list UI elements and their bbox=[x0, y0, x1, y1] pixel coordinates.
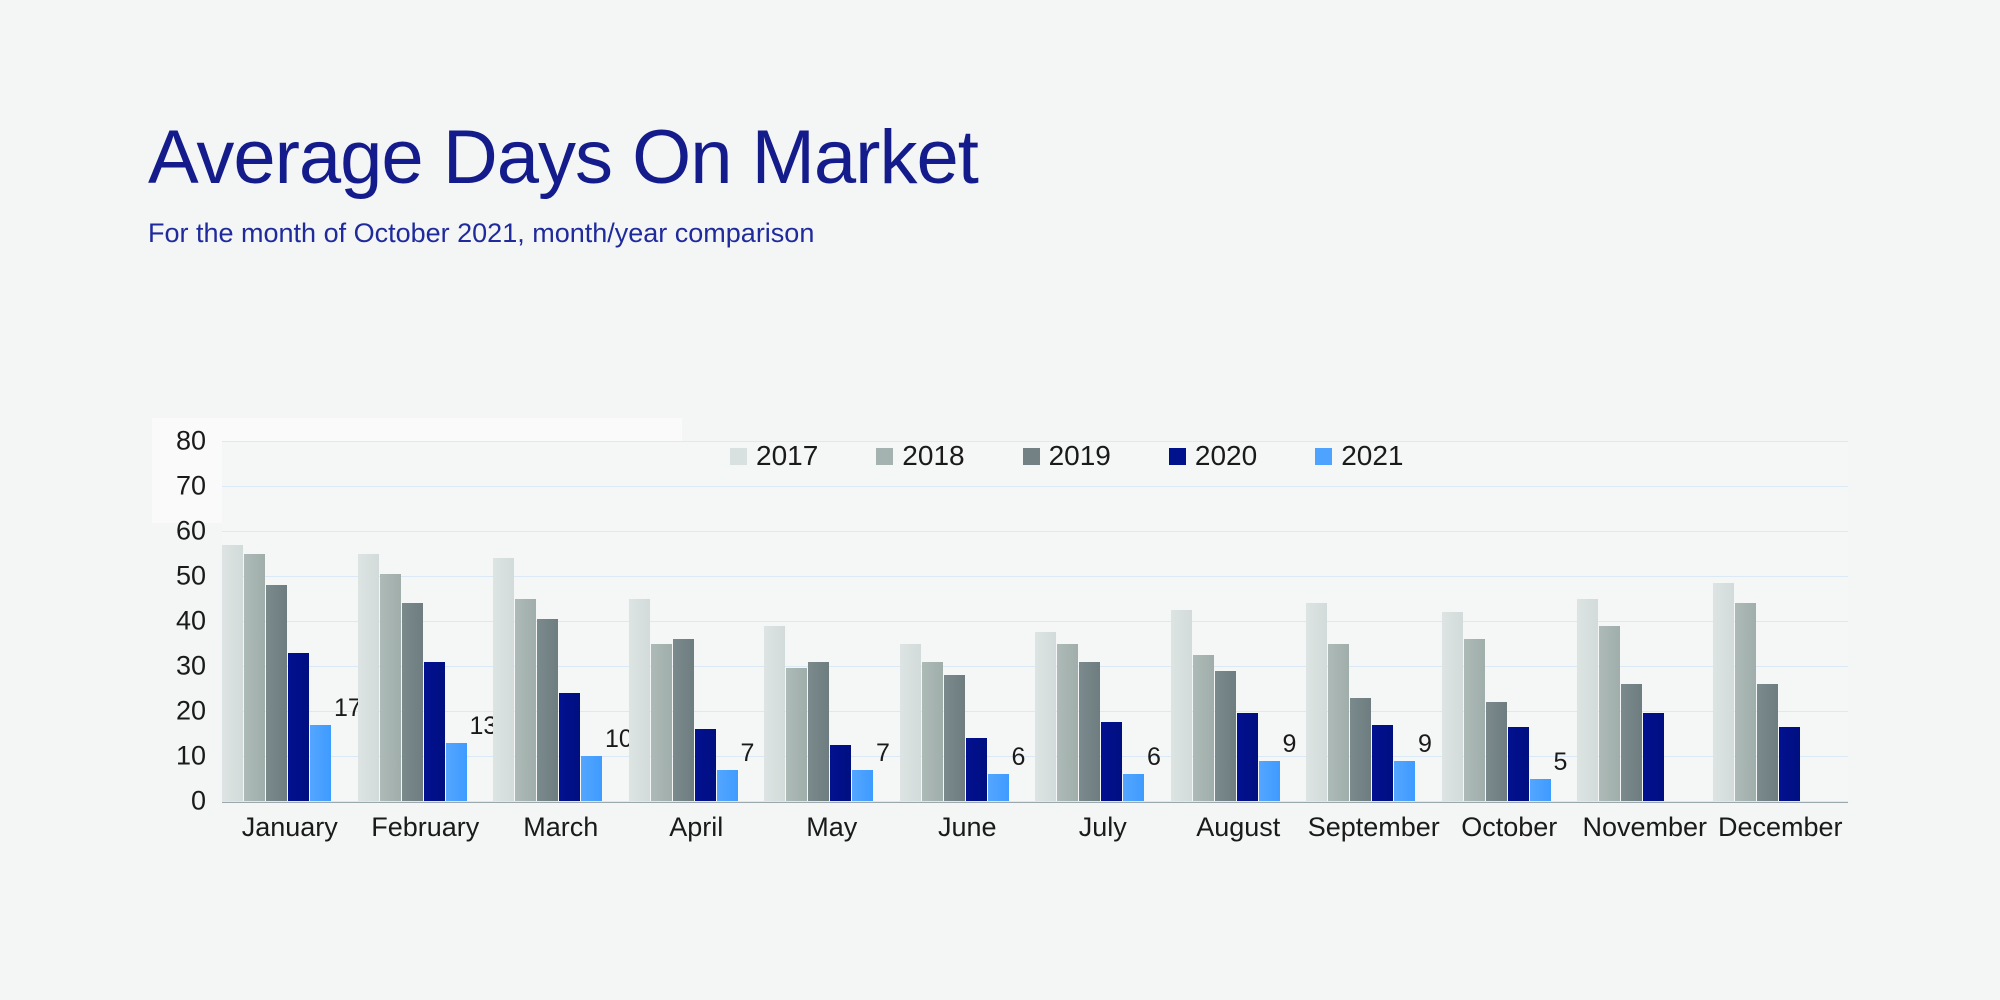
legend-swatch-icon bbox=[876, 448, 893, 465]
y-axis-tick-label: 50 bbox=[176, 561, 206, 592]
bar-2018-june[interactable] bbox=[922, 662, 943, 802]
bar-2018-march[interactable] bbox=[515, 599, 536, 802]
bar-2017-august[interactable] bbox=[1171, 610, 1192, 801]
bar-2021-may[interactable]: 7 bbox=[852, 770, 873, 802]
bar-group: 13 bbox=[358, 441, 494, 801]
y-axis-tick-label: 20 bbox=[176, 696, 206, 727]
bar-2018-april[interactable] bbox=[651, 644, 672, 802]
bar-group: 5 bbox=[1442, 441, 1578, 801]
legend-swatch-icon bbox=[1169, 448, 1186, 465]
x-axis-label-july: July bbox=[1035, 812, 1171, 843]
bar-2017-september[interactable] bbox=[1306, 603, 1327, 801]
x-axis-label-april: April bbox=[629, 812, 765, 843]
x-axis-label-december: December bbox=[1713, 812, 1849, 843]
bar-group: 17 bbox=[222, 441, 358, 801]
bar-2020-january[interactable] bbox=[288, 653, 309, 802]
bar-2020-november[interactable] bbox=[1643, 713, 1664, 801]
bar-group: 6 bbox=[1035, 441, 1171, 801]
bar-2020-march[interactable] bbox=[559, 693, 580, 801]
bar-2021-july[interactable]: 6 bbox=[1123, 774, 1144, 801]
bar-2019-april[interactable] bbox=[673, 639, 694, 801]
bar-2018-december[interactable] bbox=[1735, 603, 1756, 801]
bar-2019-july[interactable] bbox=[1079, 662, 1100, 802]
legend-label: 2018 bbox=[902, 440, 964, 472]
legend-label: 2021 bbox=[1341, 440, 1403, 472]
y-axis-tick-label: 80 bbox=[176, 426, 206, 457]
bar-group: 9 bbox=[1171, 441, 1307, 801]
x-axis-label-november: November bbox=[1577, 812, 1713, 843]
bar-2020-february[interactable] bbox=[424, 662, 445, 802]
chart-header: Average Days On Market For the month of … bbox=[148, 120, 1648, 249]
legend-swatch-icon bbox=[1023, 448, 1040, 465]
bar-2020-may[interactable] bbox=[830, 745, 851, 801]
y-axis-tick-label: 70 bbox=[176, 471, 206, 502]
bar-data-label: 9 bbox=[1283, 730, 1297, 759]
bar-2020-august[interactable] bbox=[1237, 713, 1258, 801]
x-axis-label-september: September bbox=[1306, 812, 1442, 843]
bar-2018-january[interactable] bbox=[244, 554, 265, 802]
bar-2019-january[interactable] bbox=[266, 585, 287, 801]
x-axis-label-august: August bbox=[1171, 812, 1307, 843]
chart-legend: 20172018201920202021 bbox=[730, 440, 1403, 472]
legend-item-2018[interactable]: 2018 bbox=[876, 440, 964, 472]
bar-2021-april[interactable]: 7 bbox=[717, 770, 738, 802]
bar-2020-june[interactable] bbox=[966, 738, 987, 801]
legend-swatch-icon bbox=[1315, 448, 1332, 465]
bar-2021-august[interactable]: 9 bbox=[1259, 761, 1280, 802]
bar-2019-october[interactable] bbox=[1486, 702, 1507, 801]
bar-2021-march[interactable]: 10 bbox=[581, 756, 602, 801]
bar-2020-september[interactable] bbox=[1372, 725, 1393, 802]
bar-2019-november[interactable] bbox=[1621, 684, 1642, 801]
legend-item-2019[interactable]: 2019 bbox=[1023, 440, 1111, 472]
bar-2018-july[interactable] bbox=[1057, 644, 1078, 802]
bar-2017-july[interactable] bbox=[1035, 632, 1056, 801]
plot-area-wrapper: 1713107766995 bbox=[222, 441, 1848, 801]
bar-2019-march[interactable] bbox=[537, 619, 558, 801]
bar-2020-april[interactable] bbox=[695, 729, 716, 801]
bar-group: 7 bbox=[764, 441, 900, 801]
y-axis-tick-label: 30 bbox=[176, 651, 206, 682]
y-axis-tick-labels: 80706050403020100 bbox=[150, 441, 206, 801]
bar-2018-september[interactable] bbox=[1328, 644, 1349, 802]
bar-2018-october[interactable] bbox=[1464, 639, 1485, 801]
bar-2021-september[interactable]: 9 bbox=[1394, 761, 1415, 802]
bar-2020-october[interactable] bbox=[1508, 727, 1529, 801]
legend-item-2017[interactable]: 2017 bbox=[730, 440, 818, 472]
bar-2017-november[interactable] bbox=[1577, 599, 1598, 802]
bar-data-label: 7 bbox=[741, 739, 755, 768]
bar-2017-april[interactable] bbox=[629, 599, 650, 802]
bar-data-label: 6 bbox=[1147, 743, 1161, 772]
bar-group bbox=[1577, 441, 1713, 801]
bar-2019-september[interactable] bbox=[1350, 698, 1371, 802]
bar-2017-may[interactable] bbox=[764, 626, 785, 802]
legend-label: 2020 bbox=[1195, 440, 1257, 472]
bar-2020-july[interactable] bbox=[1101, 722, 1122, 801]
bar-group: 6 bbox=[900, 441, 1036, 801]
bar-data-label: 5 bbox=[1554, 748, 1568, 777]
bar-2019-february[interactable] bbox=[402, 603, 423, 801]
bar-2019-august[interactable] bbox=[1215, 671, 1236, 802]
x-axis-label-february: February bbox=[358, 812, 494, 843]
legend-label: 2017 bbox=[756, 440, 818, 472]
gridline bbox=[222, 801, 1848, 802]
legend-swatch-icon bbox=[730, 448, 747, 465]
bar-2019-december[interactable] bbox=[1757, 684, 1778, 801]
bar-2021-june[interactable]: 6 bbox=[988, 774, 1009, 801]
chart-subtitle: For the month of October 2021, month/yea… bbox=[148, 218, 1648, 249]
bar-2019-may[interactable] bbox=[808, 662, 829, 802]
chart-panel: Average Days On Market For the month of … bbox=[0, 0, 2000, 1000]
bar-2021-february[interactable]: 13 bbox=[446, 743, 467, 802]
x-axis-category-labels: JanuaryFebruaryMarchAprilMayJuneJulyAugu… bbox=[222, 812, 1848, 843]
bar-2019-june[interactable] bbox=[944, 675, 965, 801]
bar-2017-december[interactable] bbox=[1713, 583, 1734, 801]
bar-group: 10 bbox=[493, 441, 629, 801]
bar-2017-october[interactable] bbox=[1442, 612, 1463, 801]
x-axis-label-june: June bbox=[900, 812, 1036, 843]
x-axis-label-january: January bbox=[222, 812, 358, 843]
y-axis-tick-label: 10 bbox=[176, 741, 206, 772]
bar-2018-august[interactable] bbox=[1193, 655, 1214, 801]
bar-2020-december[interactable] bbox=[1779, 727, 1800, 801]
legend-label: 2019 bbox=[1049, 440, 1111, 472]
x-axis-label-may: May bbox=[764, 812, 900, 843]
bar-data-label: 7 bbox=[876, 739, 890, 768]
bar-2018-may[interactable] bbox=[786, 668, 807, 801]
x-axis-label-october: October bbox=[1442, 812, 1578, 843]
bar-2017-february[interactable] bbox=[358, 554, 379, 802]
bar-2018-february[interactable] bbox=[380, 574, 401, 801]
x-axis-label-march: March bbox=[493, 812, 629, 843]
y-axis-tick-label: 40 bbox=[176, 606, 206, 637]
bar-2021-october[interactable]: 5 bbox=[1530, 779, 1551, 802]
chart-title: Average Days On Market bbox=[148, 120, 1648, 196]
bar-group bbox=[1713, 441, 1849, 801]
legend-item-2020[interactable]: 2020 bbox=[1169, 440, 1257, 472]
bar-2017-june[interactable] bbox=[900, 644, 921, 802]
bar-data-label: 6 bbox=[1012, 743, 1026, 772]
bar-2017-march[interactable] bbox=[493, 558, 514, 801]
bar-2018-november[interactable] bbox=[1599, 626, 1620, 802]
y-axis-tick-label: 0 bbox=[191, 786, 206, 817]
bar-2021-january[interactable]: 17 bbox=[310, 725, 331, 802]
legend-item-2021[interactable]: 2021 bbox=[1315, 440, 1403, 472]
bar-groups: 1713107766995 bbox=[222, 441, 1848, 801]
bar-group: 7 bbox=[629, 441, 765, 801]
y-axis-tick-label: 60 bbox=[176, 516, 206, 547]
bar-2017-january[interactable] bbox=[222, 545, 243, 802]
bar-data-label: 9 bbox=[1418, 730, 1432, 759]
bar-group: 9 bbox=[1306, 441, 1442, 801]
